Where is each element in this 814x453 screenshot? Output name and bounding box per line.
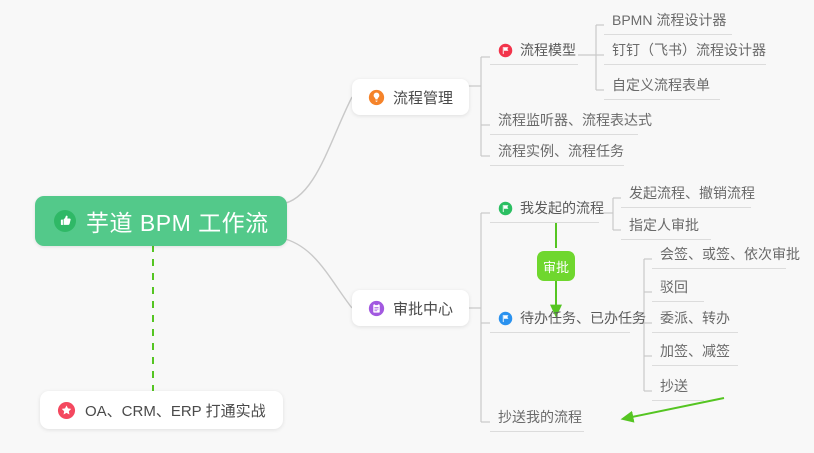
leaf-label-process-model: 流程模型 [520,40,576,60]
leaf-todo-done-tasks[interactable]: 待办任务、已办任务 [490,308,630,333]
branch-node-process-management[interactable]: 流程管理 [352,79,469,115]
leaf-cc[interactable]: 抄送 [652,376,704,401]
leaf-label-delegate-transfer: 委派、转办 [660,308,730,328]
leaf-reject[interactable]: 驳回 [652,277,704,302]
leaf-label-my-initiated-process: 我发起的流程 [520,198,604,218]
leaf-label-cc-to-me-process: 抄送我的流程 [498,407,582,427]
flag-red-icon [498,43,513,58]
leaf-label-bpmn-designer: BPMN 流程设计器 [612,10,726,30]
leaf-start-cancel-process[interactable]: 发起流程、撤销流程 [621,183,751,208]
leaf-bpmn-designer[interactable]: BPMN 流程设计器 [604,10,732,35]
star-icon [57,401,76,420]
leaf-label-dingtalk-feishu-designer: 钉钉（飞书）流程设计器 [612,40,766,60]
root-node[interactable]: 芋道 BPM 工作流 [35,196,287,246]
thumbs-up-icon [53,209,77,233]
leaf-process-instance-task[interactable]: 流程实例、流程任务 [490,141,624,166]
approval-badge-label: 审批 [543,257,569,276]
connector-root-to-approval-center [281,238,352,308]
leaf-label-countersign-orsign-sequential: 会签、或签、依次审批 [660,244,800,264]
flow-arrow-cc-to-cc-mine [627,398,724,418]
callout-label: OA、CRM、ERP 打通实战 [85,400,266,421]
leaf-add-remove-sign[interactable]: 加签、减签 [652,341,738,366]
leaf-process-listener-expression[interactable]: 流程监听器、流程表达式 [490,110,638,135]
leaf-label-add-remove-sign: 加签、减签 [660,341,730,361]
leaf-my-initiated-process[interactable]: 我发起的流程 [490,198,599,223]
leaf-custom-process-form[interactable]: 自定义流程表单 [604,75,720,100]
leaf-label-todo-done-tasks: 待办任务、已办任务 [520,308,646,328]
leaf-label-reject: 驳回 [660,277,688,297]
leaf-assignee-approval[interactable]: 指定人审批 [621,215,711,240]
branch-node-approval-center[interactable]: 审批中心 [352,290,469,326]
leaf-delegate-transfer[interactable]: 委派、转办 [652,308,738,333]
flag-green-icon [498,201,513,216]
callout-integration[interactable]: OA、CRM、ERP 打通实战 [40,391,283,429]
leaf-label-cc: 抄送 [660,376,688,396]
leaf-process-model[interactable]: 流程模型 [490,40,578,65]
branch-label-process-management: 流程管理 [393,87,453,108]
leaf-countersign-orsign-sequential[interactable]: 会签、或签、依次审批 [652,244,786,269]
lightbulb-icon [368,89,385,106]
flag-blue-icon [498,311,513,326]
leaf-label-process-listener-expression: 流程监听器、流程表达式 [498,110,652,130]
connector-root-to-process-management [281,97,352,204]
mindmap-canvas: 芋道 BPM 工作流 流程管理 流程模型 BPMN 流程设计器 钉钉（飞书）流 [0,0,814,453]
branch-label-approval-center: 审批中心 [393,298,453,319]
leaf-label-assignee-approval: 指定人审批 [629,215,699,235]
root-label: 芋道 BPM 工作流 [86,204,269,238]
leaf-label-custom-process-form: 自定义流程表单 [612,75,710,95]
leaf-dingtalk-feishu-designer[interactable]: 钉钉（飞书）流程设计器 [604,40,766,65]
leaf-label-process-instance-task: 流程实例、流程任务 [498,141,624,161]
leaf-label-start-cancel-process: 发起流程、撤销流程 [629,183,755,203]
approval-badge: 审批 [537,251,575,281]
clipboard-icon [368,300,385,317]
leaf-cc-to-me-process[interactable]: 抄送我的流程 [490,407,584,432]
